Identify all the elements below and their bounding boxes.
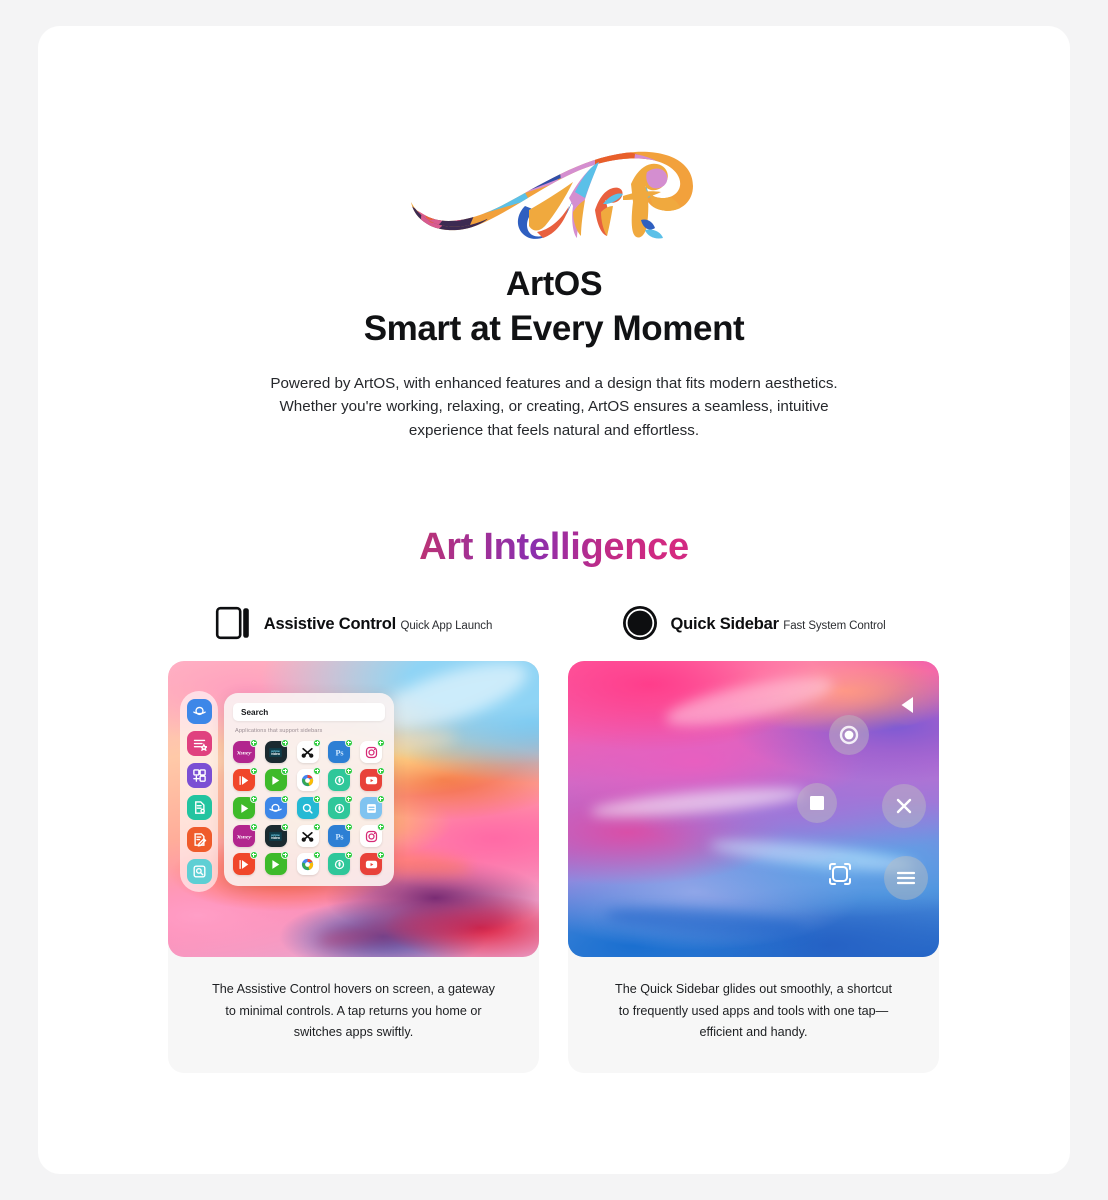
add-plus-badge[interactable] [313, 823, 321, 831]
page-root: ArtOS Smart at Every Moment Powered by A… [0, 0, 1108, 1200]
svg-text:video: video [271, 836, 280, 840]
app-icon-mint-app-3[interactable] [328, 853, 350, 875]
app-icon-chrome[interactable] [297, 769, 319, 791]
feature-header-labels: Assistive Control Quick App Launch [264, 616, 493, 634]
app-icon-prime-video[interactable]: primevideo [265, 741, 287, 763]
list-star-icon[interactable] [187, 731, 212, 756]
app-icon-green-play-2[interactable] [233, 797, 255, 819]
app-icon-doc-app[interactable] [360, 797, 382, 819]
add-plus-badge[interactable] [345, 739, 353, 747]
hero-paragraph-line-2: Whether you're working, relaxing, or cre… [234, 395, 874, 419]
title-line-2: Smart at Every Moment [38, 306, 1070, 352]
add-plus-badge[interactable] [250, 795, 258, 803]
app-icon-photoshop-2[interactable]: Ps [328, 825, 350, 847]
add-plus-badge[interactable] [345, 851, 353, 859]
app-icon-chrome-2[interactable] [297, 853, 319, 875]
add-plus-badge[interactable] [345, 795, 353, 803]
svg-text:Ps: Ps [335, 749, 343, 758]
add-plus-badge[interactable] [313, 795, 321, 803]
add-plus-badge[interactable] [313, 851, 321, 859]
svg-text:Disney+: Disney+ [237, 750, 252, 756]
app-icon-media-player-2[interactable] [233, 853, 255, 875]
feature-title: Quick Sidebar [670, 615, 778, 633]
add-plus-badge[interactable] [250, 767, 258, 775]
feature-quick-sidebar: Quick Sidebar Fast System Control [568, 603, 939, 1072]
content-sheet: ArtOS Smart at Every Moment Powered by A… [38, 26, 1070, 1174]
page-title: ArtOS Smart at Every Moment [38, 262, 1070, 352]
app-icon-mint-app-2[interactable] [328, 797, 350, 819]
drawer-subtitle: Applications that support sidebars [235, 728, 385, 734]
app-icon-instagram[interactable] [360, 741, 382, 763]
add-plus-badge[interactable] [313, 739, 321, 747]
add-plus-badge[interactable] [281, 795, 289, 803]
app-icon-prime-video-2[interactable]: primevideo [265, 825, 287, 847]
feature-assistive-control: Assistive Control Quick App Launch [168, 603, 539, 1072]
notepad-pencil-icon[interactable] [187, 827, 212, 852]
art-script-logo [409, 148, 699, 244]
app-icon-capcut[interactable] [297, 741, 319, 763]
title-line-1: ArtOS [506, 265, 602, 303]
add-plus-badge[interactable] [281, 739, 289, 747]
add-plus-badge[interactable] [377, 795, 385, 803]
add-plus-badge[interactable] [250, 823, 258, 831]
app-icon-disney-plus[interactable]: Disney+ [233, 741, 255, 763]
grid-plus-icon[interactable] [187, 763, 212, 788]
svg-text:video: video [271, 752, 280, 756]
add-plus-badge[interactable] [250, 739, 258, 747]
add-plus-badge[interactable] [377, 851, 385, 859]
art-intelligence-title: Art Intelligence [38, 526, 1070, 569]
app-icon-disney-plus-2[interactable]: Disney+ [233, 825, 255, 847]
app-icon-mint-app[interactable] [328, 769, 350, 791]
assistive-control-icon [215, 604, 253, 647]
add-plus-badge[interactable] [313, 767, 321, 775]
hero-paragraph-line-1: Powered by ArtOS, with enhanced features… [234, 372, 874, 396]
quick-sidebar-screenshot [568, 661, 939, 957]
quick-sidebar-icon [621, 604, 659, 647]
hero-paragraph: Powered by ArtOS, with enhanced features… [234, 372, 874, 443]
add-plus-badge[interactable] [377, 767, 385, 775]
document-icon[interactable] [187, 795, 212, 820]
search-input[interactable]: Search [233, 703, 385, 721]
planet-icon[interactable] [187, 699, 212, 724]
app-icon-green-play[interactable] [265, 769, 287, 791]
feature-subtitle: Fast System Control [783, 620, 885, 632]
hero-section: ArtOS Smart at Every Moment Powered by A… [38, 26, 1070, 442]
add-plus-badge[interactable] [345, 767, 353, 775]
app-icon-youtube[interactable] [360, 769, 382, 791]
feature-caption: The Quick Sidebar glides out smoothly, a… [568, 957, 939, 1068]
app-drawer: Search Applications that support sidebar… [224, 693, 394, 886]
app-icon-media-player[interactable] [233, 769, 255, 791]
feature-subtitle: Quick App Launch [401, 620, 493, 632]
add-plus-badge[interactable] [281, 767, 289, 775]
app-icon-photoshop[interactable]: Ps [328, 741, 350, 763]
add-plus-badge[interactable] [345, 823, 353, 831]
add-plus-badge[interactable] [377, 739, 385, 747]
app-icon-planet-app[interactable] [265, 797, 287, 819]
add-plus-badge[interactable] [250, 851, 258, 859]
app-icon-instagram-2[interactable] [360, 825, 382, 847]
app-icon-search-app[interactable] [297, 797, 319, 819]
doc-search-icon[interactable] [187, 859, 212, 884]
feature-header: Quick Sidebar Fast System Control [568, 603, 939, 647]
add-plus-badge[interactable] [281, 851, 289, 859]
app-icon-green-play-3[interactable] [265, 853, 287, 875]
app-icon-youtube-2[interactable] [360, 853, 382, 875]
hero-paragraph-line-3: experience that feels natural and effort… [234, 419, 874, 443]
feature-header-labels: Quick Sidebar Fast System Control [670, 616, 885, 634]
add-plus-badge[interactable] [377, 823, 385, 831]
feature-header: Assistive Control Quick App Launch [168, 603, 539, 647]
app-icon-capcut-2[interactable] [297, 825, 319, 847]
feature-caption: The Assistive Control hovers on screen, … [168, 957, 539, 1068]
svg-text:Disney+: Disney+ [237, 834, 252, 840]
svg-text:Ps: Ps [335, 833, 343, 842]
assistive-control-screenshot: Search Applications that support sidebar… [168, 661, 539, 957]
app-grid: Disney+primevideoPsDisney+primevideoPs [233, 741, 385, 875]
sidebar-rail[interactable] [180, 691, 218, 892]
feature-card: Search Applications that support sidebar… [168, 661, 539, 1072]
add-plus-badge[interactable] [281, 823, 289, 831]
feature-list: Assistive Control Quick App Launch [168, 603, 940, 1072]
feature-title: Assistive Control [264, 615, 396, 633]
feature-card: The Quick Sidebar glides out smoothly, a… [568, 661, 939, 1072]
